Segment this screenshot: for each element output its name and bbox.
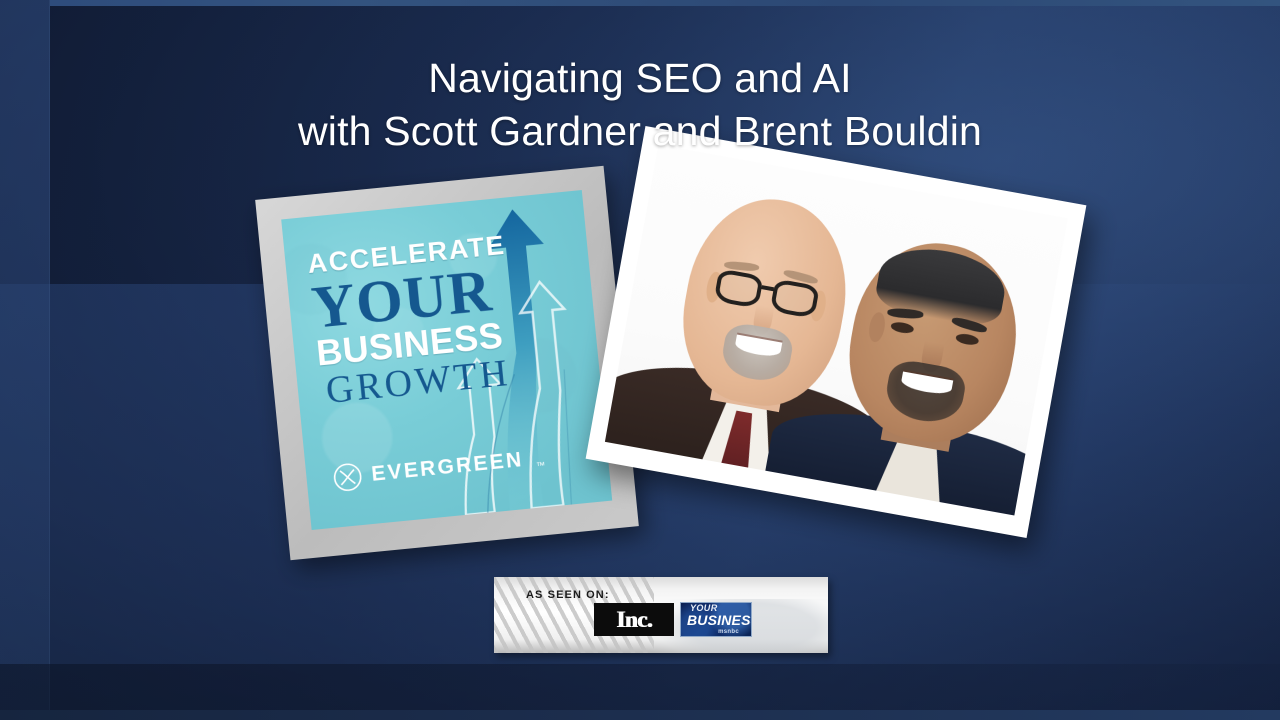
title-line-1: Navigating SEO and AI — [0, 52, 1280, 105]
as-seen-on-label: AS SEEN ON: — [526, 589, 610, 601]
msnbc-your-business-logo: YOUR BUSINESS msnbc — [680, 602, 752, 637]
background-bottom-band — [0, 664, 1280, 710]
podcast-cover-image: ACCELERATE YOUR BUSINESS GROWTH EVERGREE… — [281, 190, 612, 530]
inc-logo-text: Inc. — [616, 607, 652, 633]
lens-right — [770, 279, 820, 319]
podcast-cover-text: ACCELERATE YOUR BUSINESS GROWTH — [306, 230, 536, 412]
evergreen-trademark: ™ — [536, 460, 546, 471]
beard — [882, 357, 968, 427]
guest-photo-image — [605, 145, 1068, 516]
person-right-brent-bouldin — [793, 196, 1068, 515]
slide-title: Navigating SEO and AI with Scott Gardner… — [0, 52, 1280, 159]
glasses-bridge — [761, 285, 774, 291]
msnbc-network-label: msnbc — [718, 629, 739, 635]
evergreen-logo-icon — [331, 461, 364, 494]
podcast-cover-art[interactable]: ACCELERATE YOUR BUSINESS GROWTH EVERGREE… — [255, 166, 639, 560]
ear-left — [867, 311, 887, 343]
title-line-2: with Scott Gardner and Brent Bouldin — [0, 105, 1280, 158]
lens-left — [714, 269, 764, 309]
inc-logo: Inc. — [594, 603, 674, 636]
eye-left — [891, 321, 915, 335]
eye-right — [955, 332, 979, 346]
msnbc-logo-line2: BUSINESS — [687, 613, 752, 628]
as-seen-on-banner: AS SEEN ON: Inc. YOUR BUSINESS msnbc — [494, 577, 828, 653]
podcast-cover-frame: ACCELERATE YOUR BUSINESS GROWTH EVERGREE… — [255, 166, 639, 560]
slide-canvas: Navigating SEO and AI with Scott Gardner… — [0, 0, 1280, 720]
background-bottom-strip — [0, 710, 1280, 720]
